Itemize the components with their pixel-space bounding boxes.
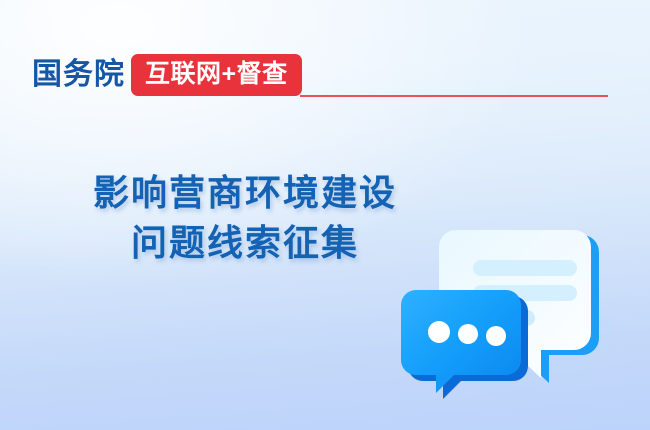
promo-banner: 国务院 互联网+督查 影响营商环境建设 问题线索征集 — [0, 0, 650, 430]
organization-title: 国务院 — [32, 60, 125, 90]
ellipsis-dot-2 — [458, 324, 478, 344]
title-line-2: 问题线索征集 — [60, 218, 430, 268]
header-divider-rule — [300, 95, 608, 97]
banner-header: 国务院 互联网+督查 — [32, 54, 302, 96]
ellipsis-dot-1 — [428, 321, 450, 343]
chat-bubbles-illustration — [398, 212, 614, 400]
bubble-text-line-1 — [473, 260, 577, 276]
title-line-1: 影响营商环境建设 — [60, 168, 430, 218]
program-badge: 互联网+督查 — [131, 54, 302, 96]
ellipsis-dot-3 — [486, 326, 506, 346]
page-title: 影响营商环境建设 问题线索征集 — [60, 168, 430, 267]
